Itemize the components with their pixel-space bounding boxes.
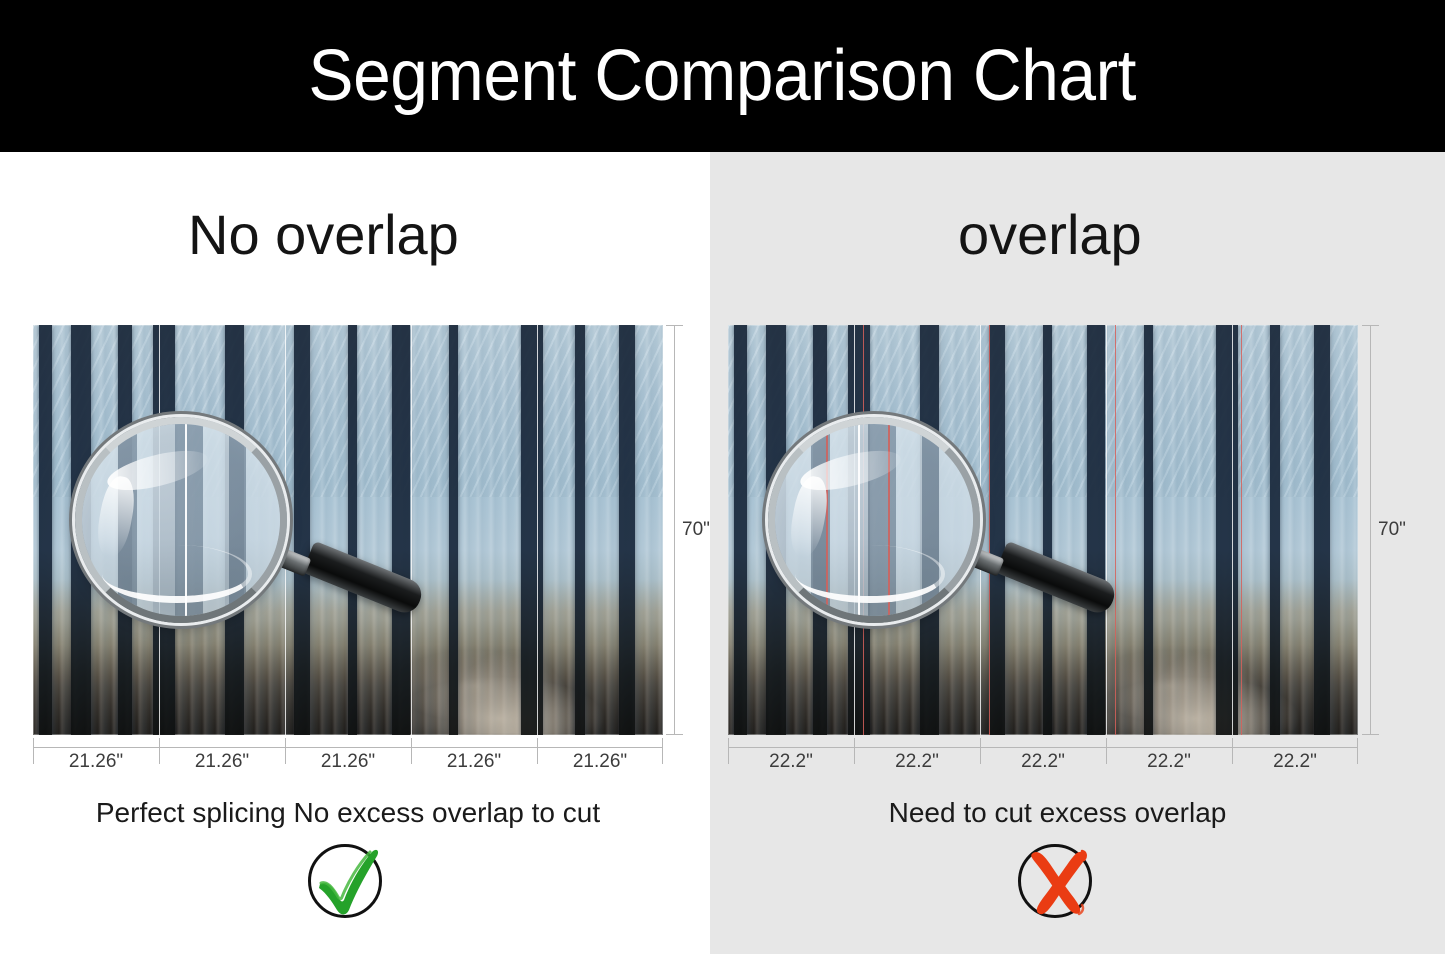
mural-trunk <box>39 325 52 735</box>
mural-seam <box>980 325 981 735</box>
segment-width-label: 21.26" <box>33 751 159 773</box>
mural-overlap-seam <box>989 325 990 735</box>
height-label: 70" <box>682 519 710 541</box>
mural-trunk <box>734 325 747 735</box>
dimension-line <box>674 325 675 735</box>
mural-trunk <box>348 325 357 735</box>
page-title: Segment Comparison Chart <box>309 35 1137 117</box>
panel-overlap: overlap <box>710 152 1445 954</box>
magnifying-glass-icon <box>768 417 980 623</box>
dimension-cap <box>1362 734 1379 735</box>
mural-trunk <box>575 325 585 735</box>
verdict-overlap <box>710 840 1445 924</box>
segment-width-label: 21.26" <box>411 751 537 773</box>
segment-width-labels: 22.2" 22.2" 22.2" 22.2" 22.2" <box>728 751 1358 773</box>
mural-seam <box>1106 325 1107 735</box>
cross-mark-icon <box>1016 840 1100 924</box>
panel-no-overlap: No overlap <box>0 152 710 954</box>
segment-width-label: 22.2" <box>980 751 1106 773</box>
dimension-cap <box>666 734 683 735</box>
panel-container: No overlap <box>0 152 1445 954</box>
segment-width-label: 22.2" <box>1106 751 1232 773</box>
lens-glare <box>102 545 252 603</box>
check-mark-icon <box>306 840 390 924</box>
lens-glare <box>795 545 945 603</box>
mural-trunk <box>521 325 542 735</box>
panel-heading-overlap: overlap <box>958 202 1142 267</box>
mural-trunk <box>1144 325 1153 735</box>
mural-trunk <box>989 325 1004 735</box>
mural-seam <box>537 325 538 735</box>
check-mark-glyph <box>306 840 390 924</box>
mural-trunk <box>619 325 635 735</box>
mural-overlap-seam <box>1241 325 1242 735</box>
mural-trunk <box>1043 325 1052 735</box>
magnifier-lens <box>768 417 980 623</box>
caption-overlap: Need to cut excess overlap <box>710 797 1445 829</box>
mural-trunk <box>449 325 458 735</box>
mural-trunk <box>1087 325 1105 735</box>
mural-trunk <box>1270 325 1280 735</box>
magnifier-lens <box>75 417 287 623</box>
mural-overlap <box>728 325 1358 735</box>
height-label: 70" <box>1378 519 1406 541</box>
dimension-line <box>33 747 663 748</box>
segment-width-label: 21.26" <box>537 751 663 773</box>
mural-no-overlap <box>33 325 663 735</box>
segment-width-label: 22.2" <box>1232 751 1358 773</box>
segment-width-label: 21.26" <box>285 751 411 773</box>
cross-mark-glyph <box>1016 840 1100 924</box>
panel-heading-no-overlap: No overlap <box>188 202 459 267</box>
dimension-line <box>728 747 1358 748</box>
dimension-line <box>1370 325 1371 735</box>
verdict-no-overlap <box>0 840 710 924</box>
mural-trunk <box>1314 325 1330 735</box>
mural-seam <box>411 325 412 735</box>
mural-overlap-seam <box>1115 325 1116 735</box>
segment-width-label: 21.26" <box>159 751 285 773</box>
mural-trunk <box>1216 325 1237 735</box>
mural-seam <box>1232 325 1233 735</box>
mural-trunk <box>294 325 309 735</box>
segment-width-label: 22.2" <box>854 751 980 773</box>
caption-no-overlap: Perfect splicing No excess overlap to cu… <box>0 797 710 829</box>
comparison-chart-page: Segment Comparison Chart No overlap <box>0 0 1445 954</box>
mural-trunk <box>392 325 410 735</box>
magnifying-glass-icon <box>75 417 287 623</box>
segment-width-labels: 21.26" 21.26" 21.26" 21.26" 21.26" <box>33 751 663 773</box>
title-bar: Segment Comparison Chart <box>0 0 1445 152</box>
segment-width-label: 22.2" <box>728 751 854 773</box>
